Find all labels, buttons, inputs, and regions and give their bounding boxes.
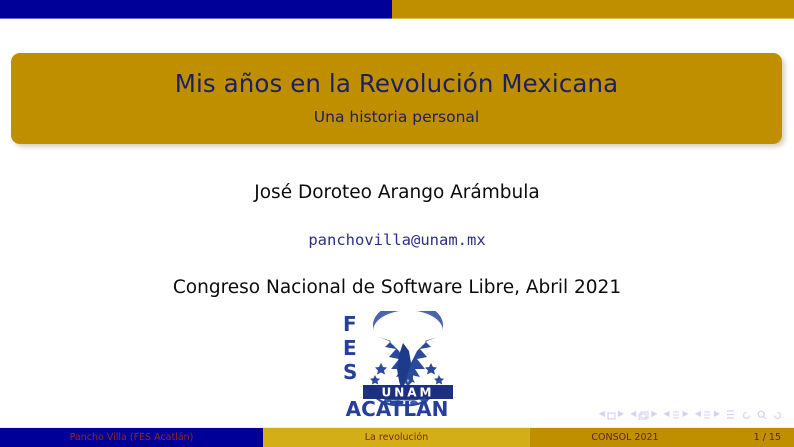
nav-frame-group[interactable]: ◀ ▶: [630, 405, 657, 424]
footer-author: Pancho Villa (FES Acatlán): [0, 428, 263, 447]
nav-back-icon[interactable]: [742, 405, 751, 424]
page-title: Mis años en la Revolución Mexicana: [175, 71, 619, 98]
nav-slide-next-icon[interactable]: ▶: [618, 410, 624, 418]
nav-subsection-icon[interactable]: [672, 405, 681, 424]
event-line: Congreso Nacional de Software Libre, Abr…: [0, 277, 794, 298]
page-subtitle: Una historia personal: [314, 108, 479, 126]
header-bar-right-segment: [392, 0, 794, 19]
footer-section: La revolución: [263, 428, 530, 447]
nav-slide-group[interactable]: ◀ ▶: [599, 405, 624, 424]
logo-letter-s: S: [343, 360, 357, 384]
footer-event: CONSOL 2021: [530, 428, 720, 447]
nav-search-icon[interactable]: [757, 405, 767, 424]
logo-letter-e: E: [343, 336, 357, 360]
logo-acatlan-text: ACATLÁN: [346, 397, 449, 419]
nav-slide-prev-icon[interactable]: ◀: [599, 410, 605, 418]
beamer-navigation-symbols[interactable]: ◀ ▶ ◀ ▶ ◀ ▶ ◀ ▶: [599, 407, 782, 421]
nav-subsection-prev-icon[interactable]: ◀: [663, 410, 669, 418]
nav-subsection-group[interactable]: ◀ ▶: [663, 405, 688, 424]
logo-letter-f: F: [343, 312, 357, 336]
header-bar: [0, 0, 794, 19]
author-name: José Doroteo Arango Arámbula: [0, 182, 794, 203]
nav-section-prev-icon[interactable]: ◀: [695, 410, 701, 418]
nav-forward-icon[interactable]: [773, 405, 782, 424]
nav-frame-next-icon[interactable]: ▶: [651, 410, 657, 418]
nav-subsection-next-icon[interactable]: ▶: [683, 410, 689, 418]
nav-slide-icon[interactable]: [607, 405, 616, 424]
nav-section-icon[interactable]: [703, 405, 712, 424]
nav-frame-prev-icon[interactable]: ◀: [630, 410, 636, 418]
nav-section-next-icon[interactable]: ▶: [714, 410, 720, 418]
header-bar-left-segment: [0, 0, 392, 19]
footer-page-number: 1 / 15: [720, 428, 794, 447]
slide-body: José Doroteo Arango Arámbula panchovilla…: [0, 160, 794, 298]
author-email[interactable]: panchovilla@unam.mx: [0, 231, 794, 249]
fes-acatlan-unam-logo: F E S: [339, 311, 456, 419]
nav-presentation-icon[interactable]: [726, 405, 736, 424]
footer-bar: Pancho Villa (FES Acatlán) La revolución…: [0, 427, 794, 447]
title-block: Mis años en la Revolución Mexicana Una h…: [11, 53, 782, 144]
nav-frame-icon[interactable]: [638, 405, 649, 424]
nav-section-group[interactable]: ◀ ▶: [695, 405, 720, 424]
